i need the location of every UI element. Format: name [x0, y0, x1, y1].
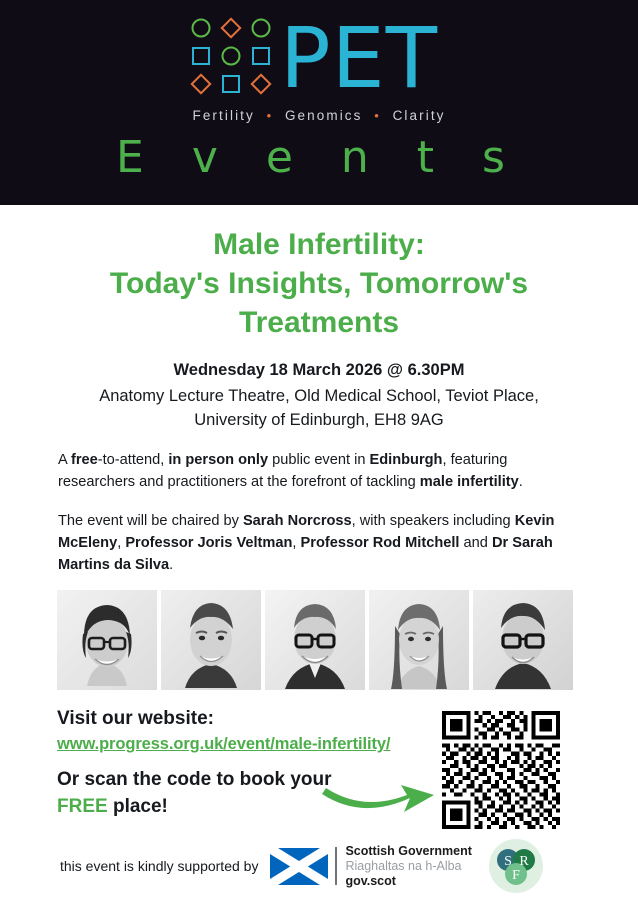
- logo-cell-9: [247, 71, 274, 96]
- page-title: Male Infertility: Today's Insights, Tomo…: [0, 225, 638, 342]
- supported-by-label: this event is kindly supported by: [60, 856, 258, 876]
- event-venue: Anatomy Lecture Theatre, Old Medical Sch…: [0, 384, 638, 432]
- poster-content: Male Infertility: Today's Insights, Tomo…: [0, 225, 638, 831]
- p2-seg-2: , with speakers including: [352, 513, 515, 529]
- green-circle-icon: [221, 46, 240, 65]
- p1-bold-male-infertility: male infertility: [420, 474, 519, 490]
- logo-cell-1: [188, 16, 215, 41]
- qr-code-image: [434, 711, 568, 829]
- scottish-government-logo: Scottish Government Riaghaltas na h-Alba…: [270, 844, 471, 889]
- tagline-dot-icon: •: [267, 108, 274, 123]
- p2-seg-4: ,: [292, 535, 300, 551]
- scan-post-text: place!: [108, 796, 168, 817]
- qr-code[interactable]: [434, 711, 568, 829]
- pet-wordmark: PET: [280, 10, 438, 106]
- speaker-photo: [161, 590, 261, 690]
- scan-pre-text: Or scan the code to book your: [57, 769, 332, 790]
- saltire-flag-icon: [270, 848, 328, 885]
- p2-seg-1: The event will be chaired by: [58, 513, 243, 529]
- p1-bold-in-person-only: in person only: [168, 452, 268, 468]
- description-paragraph-1: A free-to-attend, in person only public …: [0, 449, 638, 493]
- description-paragraph-2: The event will be chaired by Sarah Norcr…: [0, 510, 638, 576]
- tagline-clarity: Clarity: [393, 108, 446, 123]
- blue-square-icon: [222, 75, 240, 93]
- srf-logo: S R F: [488, 838, 544, 894]
- footer-sponsors: this event is kindly supported by Scotti…: [0, 832, 638, 900]
- logo-cell-2: [218, 16, 245, 41]
- header-band: PET Fertility • Genomics • Clarity E v e…: [0, 0, 638, 205]
- srf-letter-r: R: [519, 854, 529, 869]
- p1-seg-1: A: [58, 452, 71, 468]
- logo-cell-3: [247, 16, 274, 41]
- speaker-photo: [473, 590, 573, 690]
- srf-letter-s: S: [504, 854, 512, 869]
- venue-line-2: University of Edinburgh, EH8 9AG: [194, 411, 443, 429]
- logo-cell-7: [188, 71, 215, 96]
- events-heading: E v e n t s: [0, 132, 638, 184]
- title-line-1: Male Infertility:: [213, 228, 425, 261]
- event-datetime: Wednesday 18 March 2026 @ 6.30PM: [0, 358, 638, 382]
- orange-diamond-icon: [220, 18, 241, 39]
- visit-website-label: Visit our website:: [57, 706, 437, 732]
- logo-cell-6: [247, 44, 274, 69]
- p1-bold-edinburgh: Edinburgh: [370, 452, 443, 468]
- p2-seg-6: .: [169, 557, 173, 573]
- pet-logo: PET Fertility • Genomics • Clarity: [188, 16, 450, 108]
- pet-logo-shape-grid: [188, 16, 274, 96]
- blue-square-icon: [252, 47, 270, 65]
- orange-diamond-icon: [191, 73, 212, 94]
- p2-bold-chair: Sarah Norcross: [243, 513, 352, 529]
- p1-seg-2: -to-attend,: [98, 452, 169, 468]
- title-line-3: Treatments: [239, 306, 399, 339]
- cta-section: Visit our website: www.progress.org.uk/e…: [0, 706, 638, 831]
- orange-diamond-icon: [250, 73, 271, 94]
- logo-divider: [335, 847, 337, 885]
- sg-line-2: Riaghaltas na h-Alba: [345, 859, 471, 874]
- pet-tagline: Fertility • Genomics • Clarity: [188, 108, 450, 123]
- speaker-photo-row: [0, 590, 638, 690]
- srf-letter-f: F: [512, 868, 520, 883]
- p2-bold-speaker-3: Professor Rod Mitchell: [301, 535, 460, 551]
- logo-cell-8: [218, 71, 245, 96]
- tagline-genomics: Genomics: [285, 108, 363, 123]
- title-line-2: Today's Insights, Tomorrow's: [110, 267, 528, 300]
- green-circle-icon: [251, 19, 270, 38]
- tagline-dot-icon: •: [374, 108, 381, 123]
- speaker-photo: [57, 590, 157, 690]
- logo-cell-5: [218, 44, 245, 69]
- speaker-photo: [265, 590, 365, 690]
- venue-line-1: Anatomy Lecture Theatre, Old Medical Sch…: [99, 387, 539, 405]
- speaker-photo: [369, 590, 469, 690]
- p1-seg-5: .: [519, 474, 523, 490]
- green-circle-icon: [192, 19, 211, 38]
- p1-seg-3: public event in: [268, 452, 369, 468]
- sg-line-1: Scottish Government: [345, 844, 471, 859]
- sg-line-3: gov.scot: [345, 874, 471, 889]
- curved-arrow-icon: [318, 778, 438, 824]
- p1-bold-free: free: [71, 452, 98, 468]
- logo-cell-4: [188, 44, 215, 69]
- tagline-fertility: Fertility: [192, 108, 254, 123]
- p2-bold-speaker-2: Professor Joris Veltman: [125, 535, 292, 551]
- free-highlight: FREE: [57, 796, 108, 817]
- blue-square-icon: [192, 47, 210, 65]
- event-url-link[interactable]: www.progress.org.uk/event/male-infertili…: [57, 732, 390, 757]
- scottish-government-wordmark: Scottish Government Riaghaltas na h-Alba…: [345, 844, 471, 889]
- p2-seg-5: and: [459, 535, 491, 551]
